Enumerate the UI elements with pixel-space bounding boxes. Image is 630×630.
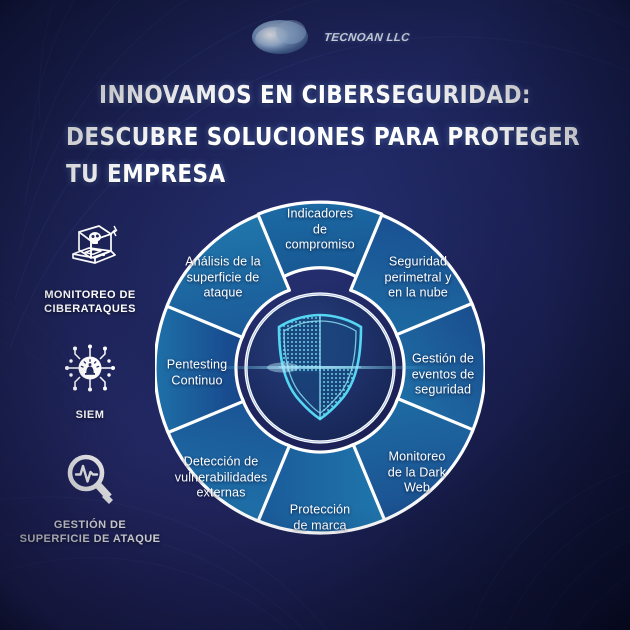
headline-line-1: INNOVAMOS EN CIBERSEGURIDAD:	[38, 80, 592, 109]
network-alarm-icon	[5, 338, 175, 400]
light-flare	[210, 366, 430, 369]
magnifier-pulse-icon	[5, 448, 175, 510]
feature-gestion-de-superficie-de-ataque[interactable]: GESTIÓN DE SUPERFICIE DE ATAQUE	[5, 448, 175, 546]
overlapping-ellipses-logo-icon	[248, 14, 318, 62]
laptop-skull-icon	[5, 218, 175, 280]
infographic-poster: TECNOAN LLC INNOVAMOS EN CIBERSEGURIDAD:…	[0, 0, 630, 630]
headline-line-2: DESCUBRE SOLUCIONES PARA PROTEGER	[66, 122, 562, 151]
services-wheel: Indicadores de compromiso Seguridad peri…	[155, 168, 485, 568]
feature-monitoreo-de-ciberataques[interactable]: MONITOREO DE CIBERATAQUES	[5, 218, 175, 316]
wheel-diagram	[155, 168, 485, 568]
brand-logo: TECNOAN LLC	[248, 14, 410, 62]
brand-name: TECNOAN LLC	[323, 32, 410, 44]
feature-label: MONITOREO DE CIBERATAQUES	[5, 288, 175, 316]
feature-siem[interactable]: SIEM	[5, 338, 175, 422]
feature-label: SIEM	[5, 408, 175, 422]
feature-label: GESTIÓN DE SUPERFICIE DE ATAQUE	[5, 518, 175, 546]
